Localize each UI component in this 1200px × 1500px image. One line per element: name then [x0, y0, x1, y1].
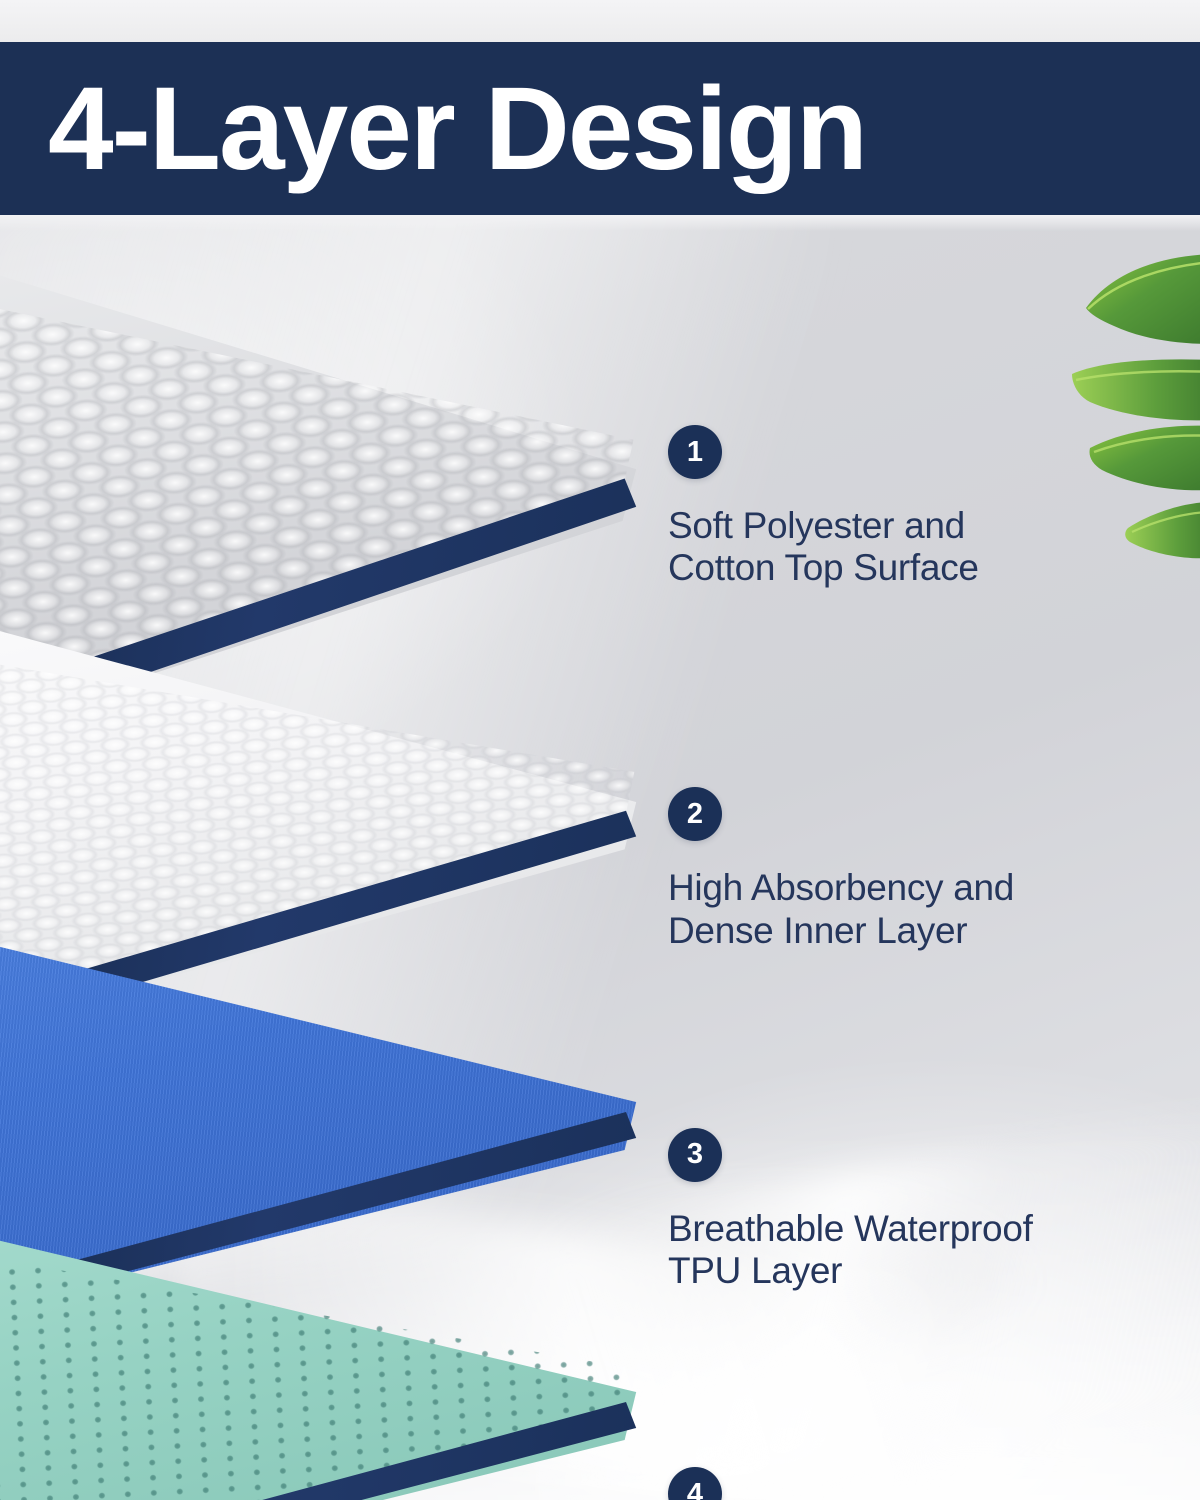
feature-list: 1 Soft Polyester and Cotton Top Surface …: [668, 425, 1168, 1500]
feature-label-2: High Absorbency and Dense Inner Layer: [668, 867, 1138, 951]
feature-badge-2: 2: [668, 787, 722, 841]
feature-label-1: Soft Polyester and Cotton Top Surface: [668, 505, 1138, 589]
feature-item-2: 2 High Absorbency and Dense Inner Layer: [668, 787, 1168, 951]
header-top-strip: [0, 0, 1200, 42]
page-title: 4-Layer Design: [48, 70, 866, 188]
feature-item-4: 4 Durable Polyester Knit Fabric Backing: [668, 1467, 1168, 1500]
feature-label-3: Breathable Waterproof TPU Layer: [668, 1208, 1138, 1292]
feature-item-1: 1 Soft Polyester and Cotton Top Surface: [668, 425, 1168, 589]
product-infographic-page: 4-Layer Design: [0, 0, 1200, 1500]
layer-stack-illustration: [0, 230, 700, 1500]
header-bottom-strip: [0, 215, 1200, 231]
header-banner: 4-Layer Design: [0, 42, 1200, 215]
teal-dotted-knit-backing-layer: [0, 1200, 660, 1500]
feature-badge-3: 3: [668, 1128, 722, 1182]
feature-badge-1: 1: [668, 425, 722, 479]
feature-badge-4: 4: [668, 1467, 722, 1500]
feature-item-3: 3 Breathable Waterproof TPU Layer: [668, 1128, 1168, 1292]
